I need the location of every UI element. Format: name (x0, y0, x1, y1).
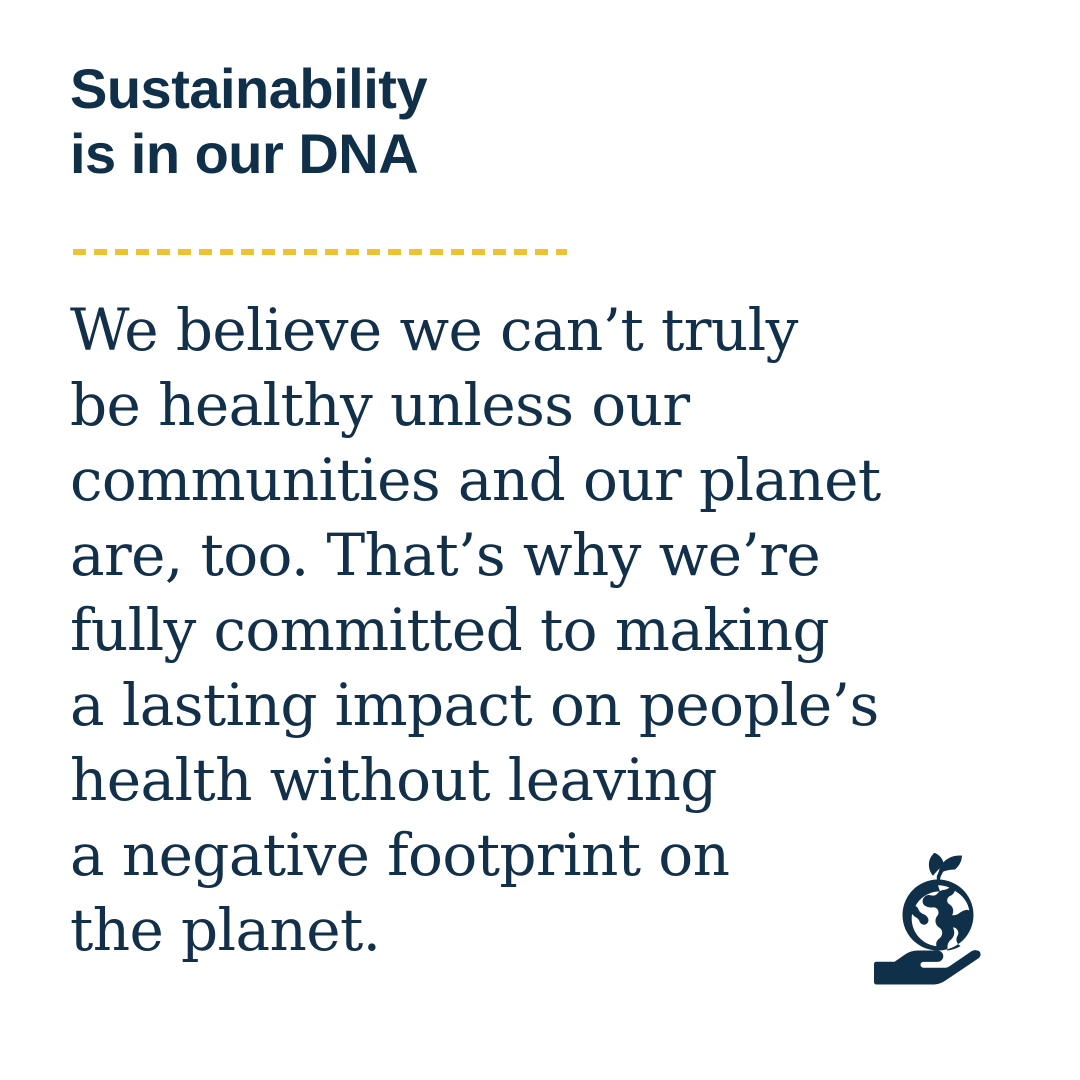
page-title-line-2: is in our DNA (70, 121, 890, 186)
sustainability-card: Sustainability is in our DNA We believe … (0, 0, 1080, 1080)
body-line-4: are, too. That’s why we’re (70, 518, 1000, 593)
body-line-5: fully committed to making (70, 593, 1000, 668)
dashed-divider (73, 249, 567, 255)
body-line-6: a lasting impact on people’s (70, 668, 1000, 743)
page-title: Sustainability is in our DNA (70, 56, 890, 186)
body-line-7: health without leaving (70, 743, 1000, 818)
hand-holding-globe-with-leaves-icon (858, 838, 1018, 998)
page-title-line-1: Sustainability (70, 56, 890, 121)
body-line-1: We believe we can’t truly (70, 293, 1000, 368)
body-line-3: communities and our planet (70, 443, 1000, 518)
body-line-2: be healthy unless our (70, 368, 1000, 443)
